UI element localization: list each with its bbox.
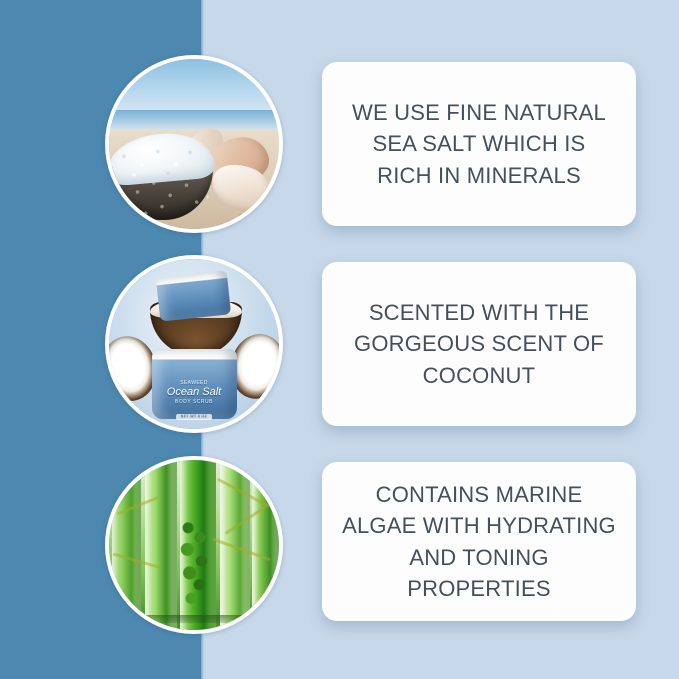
feature-text-coconut: SCENTED WITH THE GORGEOUS SCENT OF COCON… [354, 297, 604, 391]
product-net-weight: NET WT 8 OZ [176, 414, 212, 420]
marine-algae-scene [109, 460, 279, 630]
algae-cluster [177, 518, 214, 617]
product-subtitle: BODY SCRUB [152, 400, 237, 405]
feature-card-coconut: SCENTED WITH THE GORGEOUS SCENT OF COCON… [322, 262, 636, 426]
coconut-scene: SEAWEED Ocean Salt BODY SCRUB NET WT 8 O… [109, 259, 279, 429]
product-label: SEAWEED Ocean Salt BODY SCRUB NET WT 8 O… [152, 381, 237, 422]
feature-image-marine-algae [105, 456, 283, 634]
scrub-jar-lower: SEAWEED Ocean Salt BODY SCRUB NET WT 8 O… [152, 349, 237, 419]
feature-image-sea-salt [105, 55, 283, 233]
product-benefits-infographic: WE USE FINE NATURAL SEA SALT WHICH IS RI… [0, 0, 679, 679]
beach-sky [109, 59, 279, 117]
feature-text-marine-algae: CONTAINS MARINE ALGAE WITH HYDRATING AND… [342, 479, 616, 604]
tube-rack-base [109, 615, 279, 624]
feature-image-coconut: SEAWEED Ocean Salt BODY SCRUB NET WT 8 O… [105, 255, 283, 433]
scrub-jar-upper [156, 271, 232, 322]
feature-text-sea-salt: WE USE FINE NATURAL SEA SALT WHICH IS RI… [352, 97, 606, 191]
test-tube-1 [112, 456, 141, 634]
sea-salt-scene [109, 59, 279, 229]
feature-card-marine-algae: CONTAINS MARINE ALGAE WITH HYDRATING AND… [322, 462, 636, 621]
product-brand: SEAWEED [152, 381, 237, 386]
product-name: Ocean Salt [152, 387, 237, 399]
test-tube-5 [252, 456, 279, 634]
test-tube-2 [145, 456, 177, 634]
feature-card-sea-salt: WE USE FINE NATURAL SEA SALT WHICH IS RI… [322, 62, 636, 226]
